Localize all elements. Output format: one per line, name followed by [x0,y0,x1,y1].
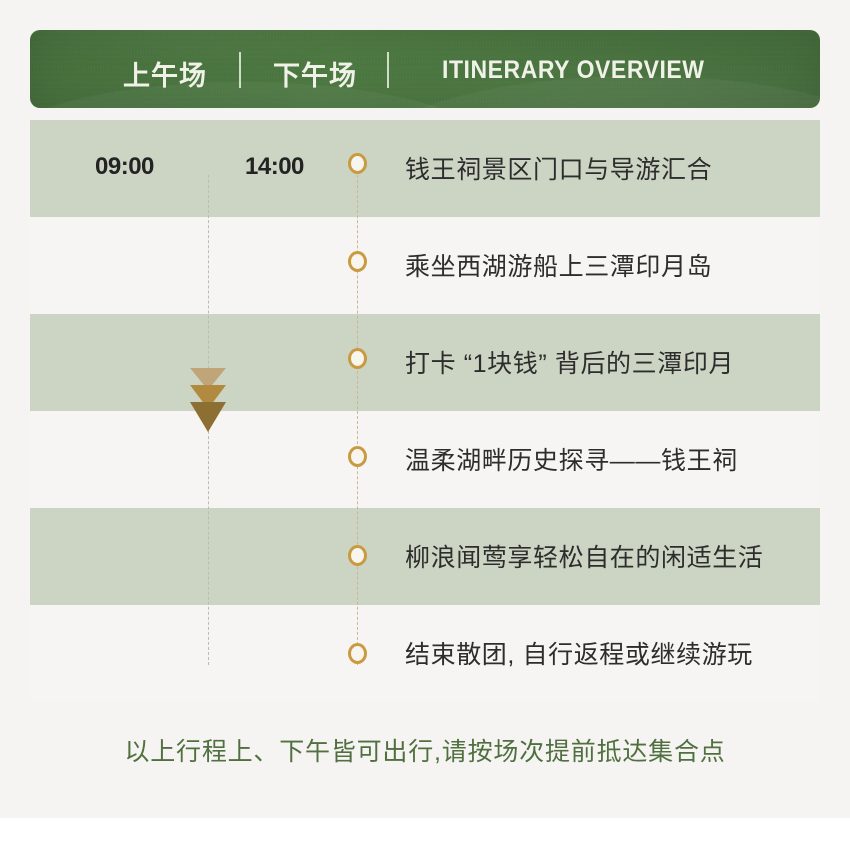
itinerary-header-bar: 上午场 下午场 ITINERARY OVERVIEW [30,30,820,108]
itinerary-row: 打卡 “1块钱” 背后的三潭印月 [0,314,850,411]
itinerary-row: 结束散团, 自行返程或继续游玩 [0,605,850,702]
itinerary-row: 09:00 14:00 钱王祠景区门口与导游汇合 [0,120,850,217]
timeline-dashed-line [357,160,358,665]
header-separator-1 [239,52,241,88]
row-stop-description: 乘坐西湖游船上三潭印月岛 [405,247,712,283]
header-itinerary-overview-label: ITINERARY OVERVIEW [442,56,705,85]
header-separator-2 [387,52,389,88]
itinerary-page: 上午场 下午场 ITINERARY OVERVIEW 09:00 14:00 钱… [0,0,850,850]
timeline-marker-circle-icon [348,643,367,664]
timeline-marker-circle-icon [348,545,367,566]
itinerary-row: 温柔湖畔历史探寻——钱王祠 [0,411,850,508]
timeline-marker-circle-icon [348,348,367,369]
row-afternoon-time: 14:00 [245,153,304,181]
row-stop-description: 结束散团, 自行返程或继续游玩 [405,635,753,671]
chevron-down-icon [190,402,226,432]
row-stop-description: 温柔湖畔历史探寻——钱王祠 [405,441,738,477]
flow-direction-arrows [190,368,226,434]
itinerary-row: 乘坐西湖游船上三潭印月岛 [0,217,850,314]
header-afternoon-session-label: 下午场 [273,54,357,93]
timeline-marker-circle-icon [348,153,367,174]
footer-note: 以上行程上、下午皆可出行,请按场次提前抵达集合点 [0,732,850,768]
row-stop-description: 打卡 “1块钱” 背后的三潭印月 [405,344,734,380]
row-stop-description: 柳浪闻莺享轻松自在的闲适生活 [405,538,763,574]
timeline-marker-circle-icon [348,446,367,467]
row-stop-description: 钱王祠景区门口与导游汇合 [405,150,712,186]
row-morning-time: 09:00 [95,153,154,181]
header-morning-session-label: 上午场 [123,54,207,93]
timeline-marker-circle-icon [348,251,367,272]
itinerary-row: 柳浪闻莺享轻松自在的闲适生活 [0,508,850,605]
itinerary-row-list: 09:00 14:00 钱王祠景区门口与导游汇合 乘坐西湖游船上三潭印月岛 打卡… [0,120,850,702]
